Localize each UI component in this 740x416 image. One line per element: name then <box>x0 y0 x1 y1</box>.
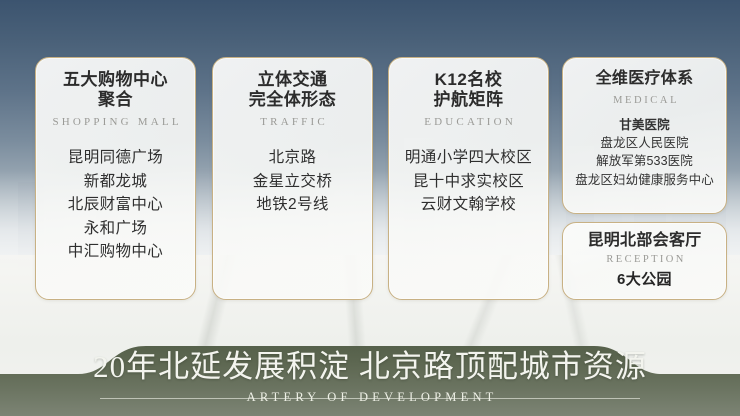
card-title-cn: 五大购物中心 聚合 <box>42 70 189 110</box>
card-title-cn: 昆明北部会客厅 <box>569 232 720 251</box>
list-item: 中汇购物中心 <box>42 240 189 264</box>
card-medical[interactable]: 全维医疗体系 MEDICAL 甘美医院 盘龙区人民医院 解放军第533医院 盘龙… <box>562 57 727 214</box>
card-item-list: 甘美医院 盘龙区人民医院 解放军第533医院 盘龙区妇幼健康服务中心 <box>569 116 720 189</box>
bottom-banner: 20年北延发展积淀 北京路顶配城市资源 ARTERY OF DEVELOPMEN… <box>0 344 740 416</box>
card-title-cn: K12名校 护航矩阵 <box>395 70 542 110</box>
card-title-cn: 立体交通 完全体形态 <box>219 70 366 110</box>
card-traffic[interactable]: 立体交通 完全体形态 TRAFFIC 北京路 金星立交桥 地铁2号线 <box>212 57 373 300</box>
list-item: 地铁2号线 <box>219 193 366 217</box>
list-item: 明通小学四大校区 <box>395 146 542 170</box>
list-item: 解放军第533医院 <box>569 152 720 170</box>
infographic-stage: 五大购物中心 聚合 SHOPPING MALL 昆明同德广场 新都龙城 北辰财富… <box>0 0 740 416</box>
card-reception[interactable]: 昆明北部会客厅 RECEPTION 6大公园 <box>562 222 727 300</box>
card-shopping-mall[interactable]: 五大购物中心 聚合 SHOPPING MALL 昆明同德广场 新都龙城 北辰财富… <box>35 57 196 300</box>
list-item: 盘龙区妇幼健康服务中心 <box>569 171 720 189</box>
banner-subtitle: ARTERY OF DEVELOPMENT <box>238 390 501 405</box>
list-item: 云财文翰学校 <box>395 193 542 217</box>
card-item-list: 6大公园 <box>569 269 720 292</box>
banner-title: 20年北延发展积淀 北京路顶配城市资源 <box>93 350 647 385</box>
list-item: 金星立交桥 <box>219 170 366 194</box>
banner-content: 20年北延发展积淀 北京路顶配城市资源 ARTERY OF DEVELOPMEN… <box>0 344 740 416</box>
card-lead-item: 甘美医院 <box>569 116 720 134</box>
list-item: 6大公园 <box>569 269 720 292</box>
card-item-list: 明通小学四大校区 昆十中求实校区 云财文翰学校 <box>395 146 542 217</box>
card-subtitle-en: EDUCATION <box>395 116 542 128</box>
card-subtitle-en: TRAFFIC <box>219 116 366 128</box>
card-subtitle-en: SHOPPING MALL <box>42 116 189 128</box>
list-item: 永和广场 <box>42 217 189 241</box>
list-item: 昆十中求实校区 <box>395 170 542 194</box>
card-education[interactable]: K12名校 护航矩阵 EDUCATION 明通小学四大校区 昆十中求实校区 云财… <box>388 57 549 300</box>
card-subtitle-en: RECEPTION <box>569 254 720 265</box>
banner-subtitle-row: ARTERY OF DEVELOPMENT <box>90 388 650 408</box>
card-item-list: 昆明同德广场 新都龙城 北辰财富中心 永和广场 中汇购物中心 <box>42 146 189 264</box>
card-title-cn: 全维医疗体系 <box>569 70 720 89</box>
list-item: 昆明同德广场 <box>42 146 189 170</box>
list-item: 盘龙区人民医院 <box>569 134 720 152</box>
list-item: 北京路 <box>219 146 366 170</box>
list-item: 新都龙城 <box>42 170 189 194</box>
list-item: 北辰财富中心 <box>42 193 189 217</box>
card-item-list: 北京路 金星立交桥 地铁2号线 <box>219 146 366 217</box>
feature-card-grid: 五大购物中心 聚合 SHOPPING MALL 昆明同德广场 新都龙城 北辰财富… <box>0 0 740 330</box>
card-subtitle-en: MEDICAL <box>569 95 720 106</box>
